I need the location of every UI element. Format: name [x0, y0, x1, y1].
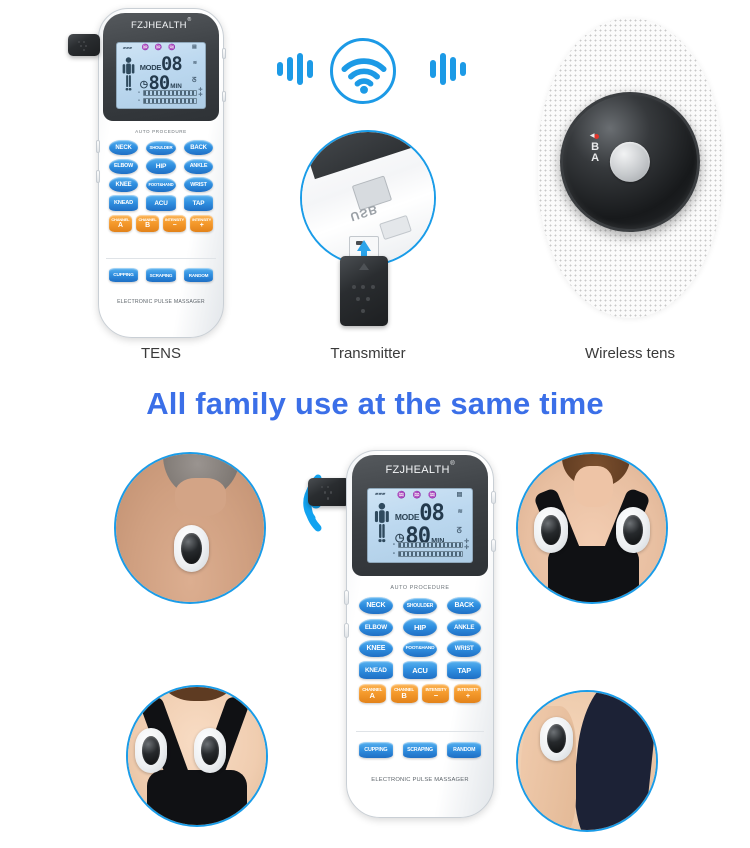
lcd-mode-label: MODE [395, 512, 419, 522]
sports-bra-body [147, 770, 246, 827]
pad-core [541, 515, 561, 545]
key-acu[interactable]: ACU [403, 661, 437, 679]
lcd-intensity-bars: - - [138, 88, 197, 104]
lcd-mode-label: MODE [140, 63, 161, 72]
device-footer-label: ELECTRONIC PULSE MASSAGER [347, 777, 493, 783]
electrode-pad-on-skin [534, 507, 568, 553]
lcd-mode-row: MODE 08 [395, 503, 454, 524]
keypad-row-bottom: CUPPING SCRAPING RANDOM [359, 742, 482, 758]
signal-icon: ≋ [458, 509, 463, 515]
pad-core [547, 724, 566, 753]
key-intensity-plus[interactable]: INTENSITY + [190, 215, 213, 232]
keypad-row-bottom: CUPPING SCRAPING RANDOM [109, 268, 213, 282]
mode-icon-3: ♒ [168, 45, 175, 51]
channel-marks-label: BA [588, 141, 601, 163]
dongle-dot-pattern [308, 478, 350, 506]
mode-icon-2: ♒ [155, 45, 162, 51]
electrode-pad-on-skin [540, 717, 573, 761]
keypad-row: KNEE FOOT&HAND WRIST [109, 177, 213, 192]
mode-icon-4: ▤ [457, 492, 463, 498]
lcd-bar-channel-b: - [138, 98, 197, 104]
caption-wireless-tens: Wireless tens [538, 345, 722, 362]
pad-core [181, 533, 202, 564]
sports-bra-body [548, 546, 640, 604]
dongle-dot-pattern [68, 34, 100, 56]
key-intensity-minus[interactable]: INTENSITY − [422, 684, 449, 703]
lcd-mode-value: 08 [419, 503, 444, 524]
pad-core [623, 515, 643, 545]
key-intensity-minus-value: − [434, 692, 438, 700]
key-channel-b-value: B [401, 692, 406, 700]
key-intensity-plus[interactable]: INTENSITY + [454, 684, 481, 703]
key-channel-b-value: B [145, 222, 150, 229]
keypad-row: NECK SHOULDER BACK [359, 597, 482, 614]
mode-icon-1: ♒ [142, 45, 149, 51]
device-side-button-right-1[interactable] [491, 491, 496, 504]
mode-icon-4: ▤ [192, 45, 197, 50]
key-ankle[interactable]: ANKLE [184, 159, 213, 174]
wireless-tens-puck[interactable]: BA ▲ [560, 92, 700, 232]
lcd-bar-channel-a: - [138, 90, 197, 96]
device-keypad-bottom: CUPPING SCRAPING RANDOM [109, 268, 213, 282]
pad-core [142, 736, 160, 765]
key-tap[interactable]: TAP [184, 195, 213, 211]
caption-tens: TENS [98, 345, 224, 362]
electrode-pad-on-skin [174, 525, 210, 572]
key-intensity-minus-value: − [173, 222, 177, 229]
keypad-row: KNEE FOOT&HAND WRIST [359, 640, 482, 657]
key-scraping[interactable]: SCRAPING [146, 268, 175, 282]
lcd-bar-channel-b: - [393, 550, 463, 557]
photo-woman-upper-back-bra [126, 685, 268, 827]
triangle-icon: ▲ [588, 132, 597, 140]
transmitter-dongle-plugged-bottom [308, 478, 350, 506]
device-side-button-lower[interactable] [344, 623, 349, 638]
bar-track [398, 551, 463, 557]
key-wrist[interactable]: WRIST [184, 177, 213, 192]
lcd-readout: MODE 08 ◷ 80 MIN [140, 56, 190, 93]
mode-icon-2: ♒ [413, 492, 422, 499]
product-infographic-page: FZJHEALTH® ▰▰▰ ♒ ♒ ♒ ▤ ≋ ᘔ [0, 0, 750, 848]
lcd-bar-channel-a: - [393, 541, 463, 548]
key-channel-b[interactable]: CHANNEL B [136, 215, 159, 232]
key-back[interactable]: BACK [184, 140, 213, 155]
caption-transmitter: Transmitter [300, 345, 436, 362]
key-knead[interactable]: KNEAD [359, 661, 393, 679]
device-keypad-bottom: CUPPING SCRAPING RANDOM [359, 742, 482, 758]
device-keypad: NECK SHOULDER BACK ELBOW HIP ANKLE KNEE … [109, 140, 213, 232]
bar-minus-label: - [138, 98, 140, 104]
electrode-pad-on-skin [194, 728, 226, 772]
keypad-row: NECK SHOULDER BACK [109, 140, 213, 155]
human-body-icon [373, 497, 391, 552]
key-ankle[interactable]: ANKLE [447, 619, 481, 636]
key-elbow[interactable]: ELBOW [109, 159, 138, 174]
bar-track [143, 98, 197, 104]
bar-minus-label: - [138, 90, 140, 96]
device-footer-label: ELECTRONIC PULSE MASSAGER [99, 299, 223, 305]
lcd-display: ▰▰▰ ♒ ♒ ♒ ▤ ≋ ᘔ [367, 488, 474, 563]
pulse-icon: ᘔ [192, 77, 197, 84]
key-channel-a[interactable]: CHANNEL A [359, 684, 386, 703]
pulse-icon: ᘔ [457, 527, 462, 535]
brand-logo: FZJHEALTH® [386, 464, 455, 476]
transmitter-dongle-plugged-top [68, 34, 100, 56]
mode-icon-3: ♒ [428, 492, 437, 499]
battery-icon: ▰▰▰ [375, 492, 385, 497]
bar-track [398, 542, 463, 548]
neck-shape [175, 478, 225, 516]
device-side-button-lower[interactable] [96, 170, 100, 183]
device-keypad: NECK SHOULDER BACK ELBOW HIP ANKLE KNEE … [359, 597, 482, 703]
device-side-button-upper[interactable] [96, 140, 100, 153]
key-shoulder[interactable]: SHOULDER [403, 598, 437, 614]
keypad-row: ELBOW HIP ANKLE [359, 618, 482, 636]
key-elbow[interactable]: ELBOW [359, 619, 393, 636]
tens-device-top: FZJHEALTH® ▰▰▰ ♒ ♒ ♒ ▤ ≋ ᘔ [98, 8, 224, 338]
lcd-intensity-bars: - - [393, 539, 463, 557]
device-side-button-upper[interactable] [344, 590, 349, 605]
key-channel-a-value: A [118, 222, 123, 229]
key-intensity-plus-value: + [200, 222, 204, 229]
keypad-divider [356, 731, 485, 732]
key-channel-a-value: A [370, 692, 375, 700]
key-shoulder[interactable]: SHOULDER [146, 141, 175, 155]
key-random[interactable]: RANDOM [184, 268, 213, 282]
bar-track [143, 90, 197, 96]
neck-shape [574, 466, 612, 507]
auto-procedure-label: AUTO PROCEDURE [347, 585, 493, 591]
key-intensity-plus-value: + [466, 692, 470, 700]
lcd-mode-row: MODE 08 [140, 56, 190, 74]
key-back[interactable]: BACK [447, 597, 481, 614]
key-knead[interactable]: KNEAD [109, 195, 138, 211]
key-channel-a[interactable]: CHANNEL A [109, 215, 132, 232]
lcd-display: ▰▰▰ ♒ ♒ ♒ ▤ ≋ ᘔ [116, 42, 207, 109]
photo-man-upper-back [114, 452, 266, 604]
photo-woman-shoulders-back [516, 452, 668, 604]
key-intensity-minus[interactable]: INTENSITY − [163, 215, 186, 232]
key-acu[interactable]: ACU [146, 195, 175, 211]
mode-icon-1: ♒ [397, 492, 406, 499]
key-neck[interactable]: NECK [109, 140, 138, 155]
dongle-dot-pattern [340, 256, 388, 326]
keypad-row-modes: KNEAD ACU TAP [109, 195, 213, 211]
key-knee[interactable]: KNEE [359, 640, 393, 657]
device-side-button-right-2[interactable] [222, 91, 226, 102]
device-side-button-right-1[interactable] [222, 48, 226, 59]
puck-power-button[interactable] [610, 142, 650, 182]
signal-bars-left [277, 52, 313, 86]
key-wrist[interactable]: WRIST [447, 640, 481, 657]
page-headline: All family use at the same time [0, 386, 750, 422]
key-random[interactable]: RANDOM [447, 742, 481, 758]
key-hip[interactable]: HIP [403, 618, 437, 636]
key-foot-and-hand[interactable]: FOOT&HAND [146, 178, 175, 192]
device-screen-housing: FZJHEALTH® ▰▰▰ ♒ ♒ ♒ ▤ ≋ ᘔ [103, 13, 219, 121]
plus-marks: ✛✛ [198, 88, 202, 98]
key-hip[interactable]: HIP [146, 158, 175, 174]
key-scraping[interactable]: SCRAPING [403, 742, 437, 758]
electrode-pad-on-skin [616, 507, 650, 553]
key-knee[interactable]: KNEE [109, 177, 138, 192]
key-channel-b[interactable]: CHANNEL B [391, 684, 418, 703]
keypad-divider [106, 258, 215, 259]
electrode-pad-on-skin [135, 728, 167, 772]
wifi-badge [330, 38, 396, 104]
brand-logo: FZJHEALTH® [131, 20, 191, 31]
tens-device-bottom: FZJHEALTH® ▰▰▰ ♒ ♒ ♒ ▤ ≋ ᘔ [346, 450, 494, 818]
key-cupping[interactable]: CUPPING [109, 268, 138, 282]
keypad-row: ELBOW HIP ANKLE [109, 158, 213, 174]
key-foot-and-hand[interactable]: FOOT&HAND [403, 641, 437, 657]
bar-minus-label: - [393, 541, 395, 548]
key-neck[interactable]: NECK [359, 597, 393, 614]
auto-procedure-label: AUTO PROCEDURE [99, 129, 223, 134]
pad-core [201, 736, 219, 765]
photo-woman-shoulder-arm [516, 690, 658, 832]
human-body-icon [121, 51, 136, 100]
key-tap[interactable]: TAP [447, 661, 481, 679]
signal-bars-right [430, 52, 466, 86]
plus-marks: ✛✛ [464, 539, 469, 551]
bar-minus-label: - [393, 550, 395, 557]
keypad-row-channel: CHANNEL A CHANNEL B INTENSITY − INTENSIT… [359, 684, 482, 703]
keypad-row-channel: CHANNEL A CHANNEL B INTENSITY − INTENSIT… [109, 215, 213, 232]
lcd-mode-value: 08 [161, 56, 182, 74]
key-cupping[interactable]: CUPPING [359, 742, 393, 758]
keypad-row-modes: KNEAD ACU TAP [359, 661, 482, 679]
device-screen-housing: FZJHEALTH® ▰▰▰ ♒ ♒ ♒ ▤ ≋ ᘔ [352, 455, 489, 576]
device-side-button-right-2[interactable] [491, 539, 496, 552]
signal-icon: ≋ [193, 61, 197, 66]
transmitter-dongle [340, 256, 388, 326]
battery-icon: ▰▰▰ [123, 46, 132, 50]
